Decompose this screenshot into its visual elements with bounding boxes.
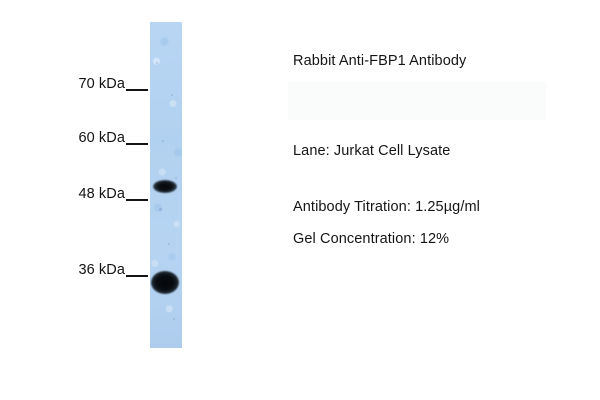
lane-speck [168,243,170,245]
mw-marker-48kda: 48 kDa [78,187,148,202]
lane-speck [156,62,158,64]
protein-band-36kda [151,271,179,294]
mw-marker-label: 36 kDa [78,262,125,278]
lane-speck [162,140,164,142]
mw-marker-60kda: 60 kDa [78,131,148,146]
lane-speck [175,177,177,179]
mw-tick-icon [126,275,148,277]
mw-tick-icon [126,143,148,145]
mw-tick-icon [126,89,148,91]
gel-concentration: Gel Concentration: 12% [293,232,449,247]
mw-marker-70kda: 70 kDa [78,77,148,92]
lane-speck [171,94,173,96]
mw-tick-icon [126,199,148,201]
mw-marker-label: 60 kDa [78,130,125,146]
antibody-title: Rabbit Anti-FBP1 Antibody [293,54,466,69]
lane-speck [159,208,162,211]
antibody-titration: Antibody Titration: 1.25µg/ml [293,200,480,215]
lane-speck [173,318,175,320]
western-blot-figure: 70 kDa 60 kDa 48 kDa 36 kDa Rabbit Anti-… [0,0,600,400]
protein-band-48kda [153,180,177,193]
blank-panel [288,82,546,120]
mw-marker-36kda: 36 kDa [78,263,148,278]
lane-description: Lane: Jurkat Cell Lysate [293,144,450,159]
mw-marker-label: 70 kDa [78,76,125,92]
mw-marker-label: 48 kDa [78,186,125,202]
